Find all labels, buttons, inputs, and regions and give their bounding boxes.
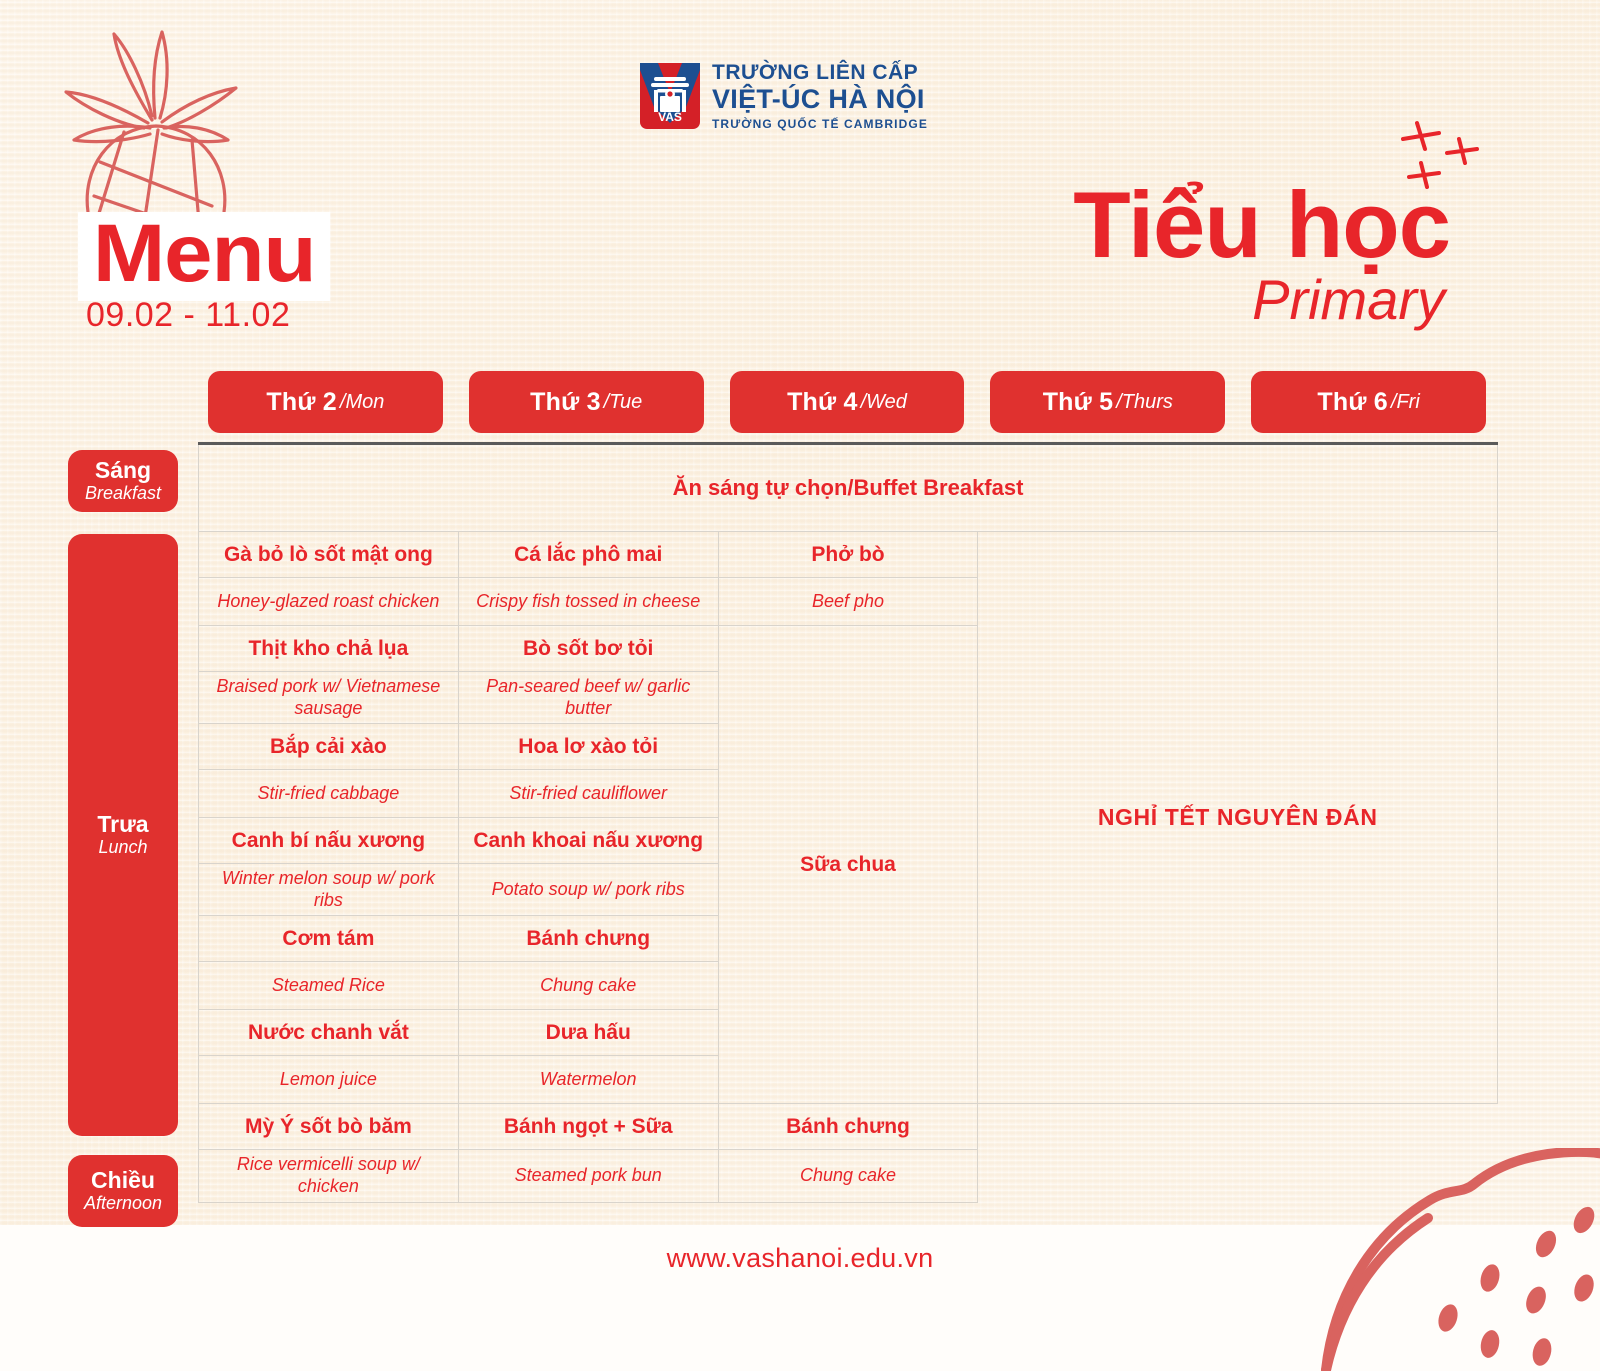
table-row-breakfast: Ăn sáng tự chọn/Buffet Breakfast [199,444,1498,532]
day-label-en: /Wed [861,391,907,414]
dish-mon-vn: Gà bỏ lò sốt mật ong [199,532,459,578]
meal-label-afternoon: Chiều Afternoon [68,1155,178,1227]
day-label-vn: Thứ 5 [1043,388,1114,417]
day-tab-wednesday[interactable]: Thứ 4 /Wed [730,371,965,433]
day-tab-monday[interactable]: Thứ 2 /Mon [208,371,443,433]
meal-label-en: Lunch [98,837,147,859]
dish-mon-vn: Thịt kho chả lụa [199,626,459,672]
dish-mon-en: Winter melon soup w/ pork ribs [199,864,459,916]
dish-tue-vn: Bánh ngọt + Sữa [458,1104,718,1150]
meal-label-en: Breakfast [85,483,161,505]
dish-mon-vn: Nước chanh vắt [199,1010,459,1056]
menu-title-container: Menu [78,212,316,301]
holiday-cell: NGHỈ TẾT NGUYÊN ĐÁN [978,532,1498,1104]
meal-label-vn: Chiều [91,1167,155,1193]
level-title-vn: Tiểu học [1073,178,1450,272]
dish-tue-en: Watermelon [458,1056,718,1104]
day-label-en: /Thurs [1116,391,1173,414]
meal-label-en: Afternoon [84,1193,162,1215]
dish-tue-en: Steamed pork bun [458,1150,718,1202]
dish-mon-en: Lemon juice [199,1056,459,1104]
dish-tue-vn: Cá lắc phô mai [458,532,718,578]
logo-line-1: TRƯỜNG LIÊN CẤP [712,62,928,83]
dish-mon-en: Honey-glazed roast chicken [199,578,459,626]
dish-wed-en: Beef pho [718,578,978,626]
dish-wed-yogurt: Sữa chua [718,626,978,1104]
meal-label-breakfast: Sáng Breakfast [68,450,178,512]
day-label-vn: Thứ 2 [266,388,337,417]
day-label-en: /Mon [340,391,384,414]
logo-line-2: VIỆT-ÚC HÀ NỘI [712,86,928,113]
level-title-en: Primary [1252,272,1445,328]
dish-tue-vn: Bánh chưng [458,916,718,962]
dish-mon-en: Braised pork w/ Vietnamese sausage [199,672,459,724]
dish-mon-en: Steamed Rice [199,962,459,1010]
day-tab-tuesday[interactable]: Thứ 3 /Tue [469,371,704,433]
svg-text:Hanoi: Hanoi [662,124,679,130]
vas-shield-icon: VAS Hanoi [640,63,700,129]
day-label-en: /Fri [1391,391,1420,414]
meal-label-lunch: Trưa Lunch [68,534,178,1136]
date-range: 09.02 - 11.02 [86,296,290,335]
dish-mon-vn: Cơm tám [199,916,459,962]
logo-line-3: TRƯỜNG QUỐC TẾ CAMBRIDGE [712,118,928,130]
page-title: Menu [78,212,330,301]
dish-tue-en: Chung cake [458,962,718,1010]
dish-mon-en: Rice vermicelli soup w/ chicken [199,1150,459,1202]
dish-mon-vn: Mỳ Ý sốt bò băm [199,1104,459,1150]
meal-label-vn: Trưa [97,811,148,837]
dish-mon-en: Stir-fried cabbage [199,770,459,818]
breakfast-cell: Ăn sáng tự chọn/Buffet Breakfast [199,444,1498,532]
dish-mon-vn: Bắp cải xào [199,724,459,770]
day-label-vn: Thứ 6 [1317,388,1388,417]
day-tab-thursday[interactable]: Thứ 5 /Thurs [990,371,1225,433]
day-header-row: Thứ 2 /Mon Thứ 3 /Tue Thứ 4 /Wed Thứ 5 /… [208,371,1486,433]
dish-mon-vn: Canh bí nấu xương [199,818,459,864]
table-row: Gà bỏ lò sốt mật ong Cá lắc phô mai Phở … [199,532,1498,578]
dish-tue-vn: Hoa lơ xào tỏi [458,724,718,770]
dish-wed-en: Chung cake [718,1150,978,1202]
dish-wed-vn: Bánh chưng [718,1104,978,1150]
dish-tue-en: Pan-seared beef w/ garlic butter [458,672,718,724]
svg-text:VAS: VAS [658,110,682,124]
dish-tue-en: Potato soup w/ pork ribs [458,864,718,916]
dish-tue-en: Stir-fried cauliflower [458,770,718,818]
dish-tue-vn: Canh khoai nấu xương [458,818,718,864]
table-row-afternoon: Mỳ Ý sốt bò băm Bánh ngọt + Sữa Bánh chư… [199,1104,1498,1150]
dish-tue-en: Crispy fish tossed in cheese [458,578,718,626]
table-row-afternoon: Rice vermicelli soup w/ chicken Steamed … [199,1150,1498,1202]
meal-label-vn: Sáng [95,457,151,483]
dish-wed-vn: Phở bò [718,532,978,578]
day-label-vn: Thứ 4 [787,388,858,417]
day-label-en: /Tue [604,391,643,414]
dish-tue-vn: Bò sốt bơ tỏi [458,626,718,672]
website-url[interactable]: www.vashanoi.edu.vn [0,1243,1600,1274]
dish-tue-vn: Dưa hấu [458,1010,718,1056]
day-tab-friday[interactable]: Thứ 6 /Fri [1251,371,1486,433]
menu-table: Ăn sáng tự chọn/Buffet Breakfast Gà bỏ l… [198,442,1498,1203]
school-logo: VAS Hanoi TRƯỜNG LIÊN CẤP VIỆT-ÚC HÀ NỘI… [640,62,928,130]
day-label-vn: Thứ 3 [530,388,601,417]
